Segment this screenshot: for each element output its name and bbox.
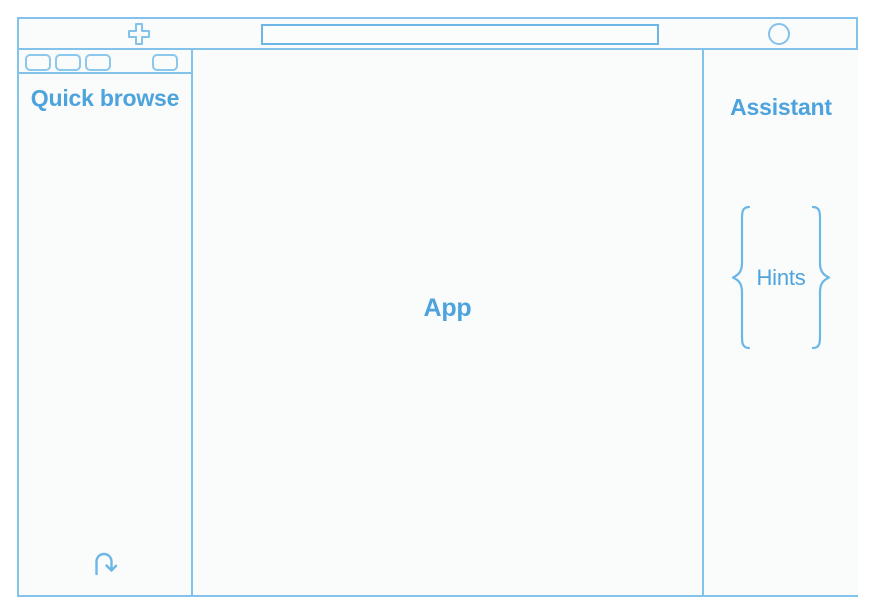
assistant-title: Assistant <box>704 94 858 121</box>
avatar-button[interactable] <box>701 19 856 48</box>
add-button[interactable] <box>19 19 259 48</box>
sidebar-toolbar <box>19 50 191 74</box>
plus-icon <box>126 21 152 47</box>
app-panel-label: App <box>424 294 472 323</box>
sidebar-panel: Quick browse <box>19 50 193 595</box>
avatar-circle-icon <box>768 23 790 45</box>
sidebar-toolbar-button-4[interactable] <box>152 54 178 71</box>
left-brace-icon <box>730 205 752 350</box>
sidebar-toolbar-button-2[interactable] <box>55 54 81 71</box>
sidebar-toolbar-button-1[interactable] <box>25 54 51 71</box>
window-body: Quick browse App Assistant Hints <box>17 50 858 597</box>
search-input[interactable] <box>261 24 659 45</box>
sidebar-title: Quick browse <box>19 84 191 113</box>
u-turn-arrow-button[interactable] <box>87 547 121 581</box>
hints-label: Hints <box>752 265 809 291</box>
sidebar-toolbar-button-3[interactable] <box>85 54 111 71</box>
hints-group: Hints <box>714 205 848 350</box>
top-bar <box>17 17 858 50</box>
assistant-panel: Assistant Hints <box>704 50 858 595</box>
app-panel: App <box>193 50 704 595</box>
u-turn-arrow-icon <box>87 547 121 581</box>
right-brace-icon <box>810 205 832 350</box>
wireframe-window: Quick browse App Assistant Hints <box>17 17 858 597</box>
